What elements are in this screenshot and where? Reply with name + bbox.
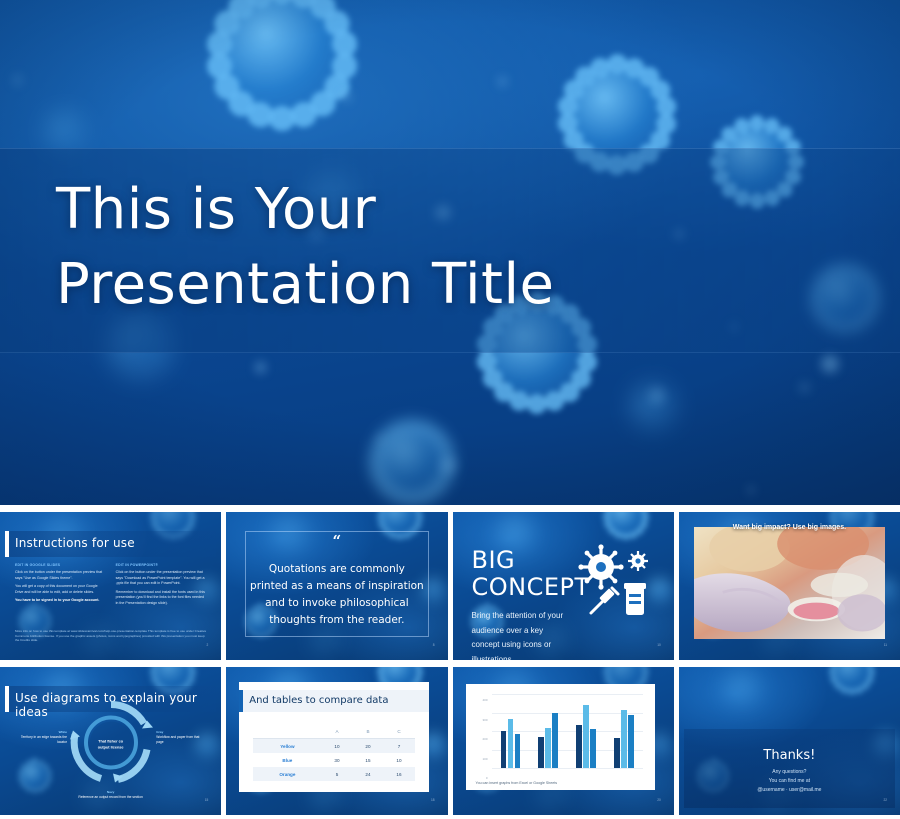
table-row-label: Yellow (253, 739, 321, 754)
thumbnail-chart[interactable]: 0100200300400 You can insert graphs from… (453, 667, 674, 815)
table-column-header: C (383, 724, 414, 739)
big-concept-icon-group (571, 541, 655, 621)
thanks-line-1: Any questions? (684, 768, 895, 777)
column-heading: EDIT IN GOOGLE SLIDES (15, 563, 106, 567)
table-cell: 20 (352, 739, 383, 754)
table-cell: 16 (383, 767, 414, 781)
chart-y-tick-label: 200 (482, 737, 487, 741)
thumbnail-quotation[interactable]: “ Quotations are commonly printed as a m… (226, 512, 447, 660)
table-row-label: Orange (253, 767, 321, 781)
chart-y-axis-labels: 0100200300400 (470, 690, 490, 768)
column-paragraph: You will get a copy of this document on … (15, 584, 106, 595)
chart-bar-group (614, 694, 634, 768)
table-row: Blue301510 (253, 753, 414, 767)
slide-thumbnail-grid: Instructions for use EDIT IN GOOGLE SLID… (0, 510, 900, 819)
diagram-label-top-left: White Territory in an edge towards the l… (17, 730, 67, 745)
chart-bar (545, 728, 551, 768)
chart-bars (492, 694, 643, 768)
column-paragraph: Click on the button under the presentati… (15, 570, 106, 581)
thanks-title: Thanks! (684, 748, 895, 763)
bacteria-icon (628, 551, 648, 571)
thanks-line-2: You can find me at (684, 777, 895, 786)
chart-bar (515, 734, 521, 768)
chart-bar (614, 738, 620, 768)
instructions-columns: EDIT IN GOOGLE SLIDES Click on the butto… (15, 563, 206, 609)
comparison-table: ABC Yellow10207Blue301510Orange52416 (253, 724, 414, 781)
cycle-center-line-2: output license (83, 745, 139, 751)
chart-bar (538, 737, 544, 768)
chart-y-tick-label: 400 (482, 698, 487, 702)
hero-title-line-1: This is Your (56, 172, 816, 247)
diagram-label-bottom: Navy Reference an output record from the… (76, 790, 146, 800)
table-cell: 24 (352, 767, 383, 781)
chart-bar (552, 713, 558, 769)
table-column-header: A (322, 724, 353, 739)
chart-bar-group (501, 694, 521, 768)
cycle-center-label: That fisher co output license (83, 740, 139, 752)
table-row: Yellow10207 (253, 739, 414, 754)
slide-title: And tables to compare data (249, 695, 388, 706)
thumbnail-big-image[interactable]: Want big impact? Use big images. 11 (679, 512, 900, 660)
hero-title-slide: This is Your Presentation Title (0, 0, 900, 505)
diagram-label-text: Territory in an edge towards the locator (21, 735, 67, 744)
virus-icon (578, 544, 623, 589)
quote-mark-icon: “ (231, 534, 442, 549)
thanks-contact: @username · user@mail.me (684, 786, 895, 795)
slide-page-number: 18 (431, 798, 435, 802)
chart-plot-area (492, 694, 643, 768)
hero-title-line-2: Presentation Title (56, 247, 816, 322)
vial-icon (624, 583, 646, 615)
slide-title: Instructions for use (15, 536, 135, 550)
chart-y-tick-label: 100 (482, 757, 487, 761)
table-column-header (253, 724, 321, 739)
cycle-diagram: That fisher co output license (63, 695, 159, 796)
thumbnail-thanks[interactable]: Thanks! Any questions? You can find me a… (679, 667, 900, 815)
table-row: Orange52416 (253, 767, 414, 781)
big-concept-subtitle: Bring the attention of your audience ove… (472, 609, 569, 660)
slide-page-number: 8 (433, 643, 435, 647)
thanks-content: Thanks! Any questions? You can find me a… (684, 748, 895, 794)
table-row-label: Blue (253, 753, 321, 767)
instructions-footer-note: More info on how to use this template at… (15, 629, 206, 643)
syringe-icon (591, 588, 618, 613)
slide-page-number: 15 (205, 798, 209, 802)
diagram-label-right: Gray Workflow and paper from that page (156, 730, 206, 745)
instructions-column-google-slides: EDIT IN GOOGLE SLIDES Click on the butto… (15, 563, 106, 609)
quote-text: Quotations are commonly printed as a mea… (249, 561, 424, 629)
thumbnail-diagram[interactable]: Use diagrams to explain your ideas (0, 667, 221, 815)
table-header-row: ABC (253, 724, 414, 739)
column-paragraph: Click on the button under the presentati… (116, 570, 207, 587)
slide-title-accent-bar (5, 686, 9, 712)
table-cell: 10 (383, 753, 414, 767)
table-cell: 10 (322, 739, 353, 754)
slide-page-number: 11 (884, 643, 887, 647)
thumbnail-big-concept[interactable]: BIG CONCEPT Bring the attention of your … (453, 512, 674, 660)
table-title-accent-bar (239, 690, 243, 712)
table-body: Yellow10207Blue301510Orange52416 (253, 739, 414, 782)
chart-y-tick-label: 0 (486, 776, 488, 780)
chart-bar (621, 710, 627, 768)
chart-bar (501, 731, 507, 768)
table-cell: 15 (352, 753, 383, 767)
slide-title-accent-bar (5, 531, 9, 557)
lab-photo (694, 527, 885, 639)
table-cell: 5 (322, 767, 353, 781)
thumbnail-table[interactable]: And tables to compare data ABC Yellow102… (226, 667, 447, 815)
diagram-label-text: Reference an output record from the sect… (78, 795, 143, 799)
image-caption: Want big impact? Use big images. (684, 524, 895, 531)
chart-caption: You can insert graphs from Excel or Goog… (476, 781, 558, 785)
table-cell: 7 (383, 739, 414, 754)
chart-bar-group (576, 694, 596, 768)
chart-bar (583, 705, 589, 768)
column-heading: EDIT IN POWERPOINT® (116, 563, 207, 567)
chart-bar (590, 729, 596, 768)
chart-gridline (492, 768, 643, 769)
chart-bar (508, 719, 514, 768)
page-title: This is Your Presentation Title (56, 172, 816, 322)
table-column-header: B (352, 724, 383, 739)
slide-page-number: 20 (657, 798, 661, 802)
instructions-column-powerpoint: EDIT IN POWERPOINT® Click on the button … (116, 563, 207, 609)
slide-page-number: 22 (883, 798, 887, 802)
slide-page-number: 2 (206, 643, 208, 647)
chart-y-tick-label: 300 (482, 718, 487, 722)
chart-bar-group (538, 694, 558, 768)
column-paragraph: Remember to download and install the fon… (116, 590, 207, 607)
table-cell: 30 (322, 753, 353, 767)
chart-bar (628, 715, 634, 768)
table-card: And tables to compare data ABC Yellow102… (239, 682, 428, 792)
chart-bar (576, 725, 582, 768)
slide-page-number: 10 (657, 643, 661, 647)
column-paragraph-bold: You have to be signed in to your Google … (15, 598, 106, 604)
thumbnail-instructions-for-use[interactable]: Instructions for use EDIT IN GOOGLE SLID… (0, 512, 221, 660)
diagram-label-text: Workflow and paper from that page (156, 735, 199, 744)
chart-card: 0100200300400 You can insert graphs from… (466, 684, 655, 790)
